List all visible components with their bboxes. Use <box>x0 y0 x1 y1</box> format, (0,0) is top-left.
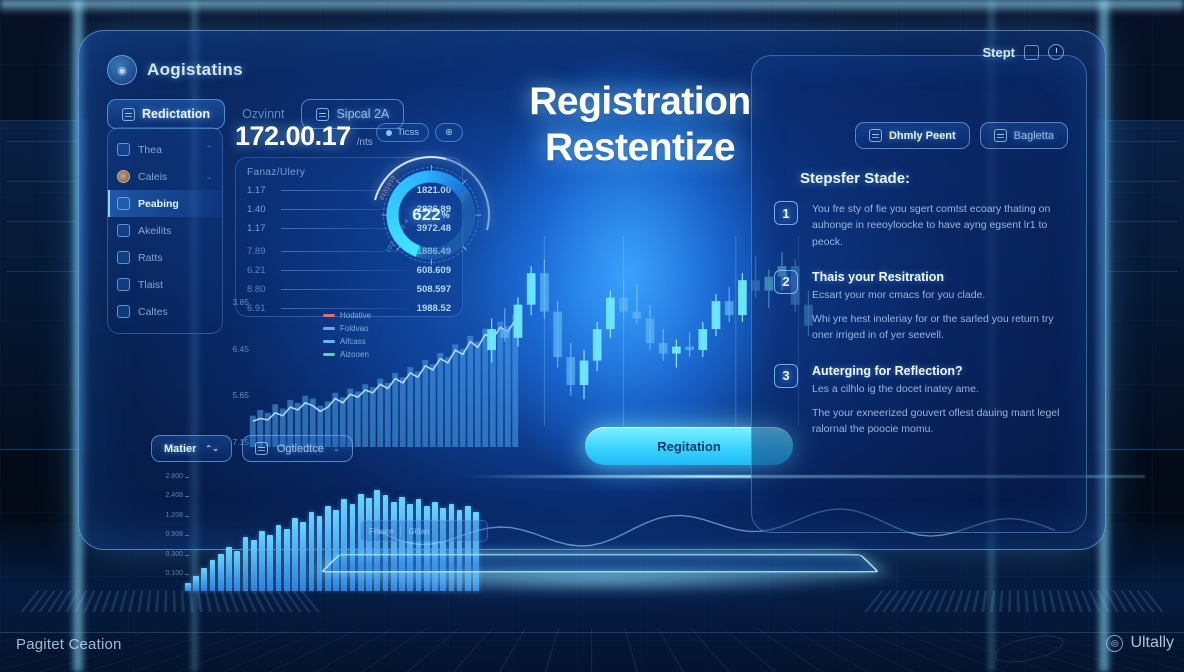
row-key: 1.17 <box>247 223 273 234</box>
bar <box>284 529 290 591</box>
plus-circle-icon: ⊕ <box>445 127 453 138</box>
right-panel-title: Stept <box>983 45 1016 60</box>
chevron-down-icon: ⌄ <box>333 444 340 453</box>
sidebar-item-label: Ratts <box>138 252 163 264</box>
doc-icon <box>994 129 1007 142</box>
bar <box>201 568 207 591</box>
row-value: 508.597 <box>417 284 451 295</box>
panel-header: ◉ Aogistatins <box>101 49 469 85</box>
avatar[interactable]: ◉ <box>107 55 137 85</box>
dropdown-matier[interactable]: Matier ⌃⌄ <box>151 435 232 462</box>
globe-icon <box>117 224 130 237</box>
bar <box>267 535 273 591</box>
right-panel-header: Stept <box>752 44 1064 60</box>
step-number: 3 <box>774 364 798 388</box>
bar <box>193 576 199 591</box>
sidebar-item-label: Caleis <box>138 171 167 183</box>
legend-item: Aizooen <box>323 348 371 361</box>
step-paragraph: Ecsart your mor cmacs for you clade. <box>812 287 1064 303</box>
mini-status-bar[interactable]: Frasce Gtilan <box>360 520 488 542</box>
step-body: Thais your Resitration Ecsart your mor c… <box>812 270 1064 344</box>
footer-left-label: Pagitet Ceation <box>16 636 122 653</box>
table-row[interactable]: 8.80 508.597 <box>247 284 451 295</box>
sun-icon <box>117 170 130 183</box>
sidebar-item-tlaist[interactable]: Tlaist <box>108 271 222 298</box>
clock-icon <box>117 143 130 156</box>
step-paragraph: The your exneerized gouvert oflest dauin… <box>812 405 1064 438</box>
tab-label: Redictation <box>142 107 210 121</box>
hash-icon <box>869 129 882 142</box>
holographic-dashboard: ◉ Aogistatins Redictation Ozvinnt Sipcal… <box>78 30 1106 550</box>
sidebar-item-label: Akeilits <box>138 225 171 237</box>
step-paragraph: You fre sty of fie you sgert comtst ecoa… <box>812 201 1064 250</box>
steps-heading: Stepsfer Stade: <box>800 170 1064 187</box>
chevron-updown-icon: ⌃⌄ <box>205 444 218 453</box>
chart-y-axis: 3.85 6.45 5.65 7.15 <box>215 297 249 447</box>
y-tick: 6.45 <box>215 344 249 354</box>
legend-item: Aifcass <box>323 335 371 348</box>
chevron-up-icon: ⌃ <box>205 144 213 155</box>
legend-label: Foldvao <box>340 322 368 335</box>
price-chip-group: Ticss ⊕ <box>376 123 463 142</box>
footer-divider <box>0 632 1184 633</box>
brand-icon: ◎ <box>1106 635 1123 652</box>
legend-swatch <box>323 314 335 317</box>
footer: Pagitet Ceation ◎ Ultally <box>0 614 1184 672</box>
step-paragraph: Whi yre hest inoleriay for or the sarled… <box>812 311 1064 344</box>
left-panel: ◉ Aogistatins Redictation Ozvinnt Sipcal… <box>101 49 469 533</box>
bar <box>259 531 265 591</box>
bar <box>185 583 191 591</box>
legend-item: Foldvao <box>323 322 371 335</box>
bagletta-button[interactable]: Bagletta <box>980 122 1068 149</box>
footer-brand-label: Ultally <box>1130 634 1174 652</box>
line-area-chart[interactable]: 3.85 6.45 5.65 7.15 Hodstive Foldvao <box>219 297 489 447</box>
button-label: Bagletta <box>1014 130 1054 142</box>
y-tick: 0.300 <box>149 551 183 558</box>
gauge-value: 622% <box>377 161 485 269</box>
list-icon <box>117 197 130 210</box>
tab-label: Sipcal 2A <box>336 107 389 121</box>
sidebar-item-thea[interactable]: Thea ⌃ <box>108 136 222 163</box>
cta-label: Regitation <box>657 439 721 454</box>
mini-status-left: Frasce <box>369 527 393 536</box>
step-item-1: 1 You fre sty of fie you sgert comtst ec… <box>774 201 1064 250</box>
row-key: 1.17 <box>247 185 273 196</box>
status-dot-icon <box>386 130 392 136</box>
step-body: You fre sty of fie you sgert comtst ecoa… <box>812 201 1064 250</box>
bar <box>276 525 282 591</box>
price-unit: /nts <box>357 137 373 148</box>
legend-label: Hodstive <box>340 309 371 322</box>
donut-gauge: 0101010 102-02-08-4 622% <box>377 161 485 269</box>
row-key: 1.40 <box>247 204 273 215</box>
chevron-down-icon: ⌄ <box>205 171 213 182</box>
book-icon <box>117 305 130 318</box>
bar-chart-y-axis: 2.800 2.408 1.208 0.908 0.300 0.100 <box>149 473 183 577</box>
sidebar-item-label: Tlaist <box>138 279 163 291</box>
sidebar-nav: Thea ⌃ Caleis ⌄ Peabing Akeilits <box>107 127 223 334</box>
dropdown-label: Ogtiedtce <box>277 443 324 455</box>
step-body: Auterging for Reflection? Les a cilhlo i… <box>812 364 1064 438</box>
mini-status-right: Gtilan <box>408 527 429 536</box>
bar <box>226 547 232 591</box>
floor-bars-left <box>20 590 320 612</box>
chart-legend: Hodstive Foldvao Aifcass Aizooen <box>323 309 371 361</box>
legend-label: Aifcass <box>340 335 366 348</box>
right-panel-buttons: Dhmly Peent Bagletta <box>770 122 1068 149</box>
y-tick: 0.100 <box>149 570 183 577</box>
bar <box>243 537 249 591</box>
y-tick: 2.408 <box>149 492 183 499</box>
print-icon[interactable] <box>1024 45 1039 60</box>
decorative-swoosh <box>992 631 1065 667</box>
grid-icon <box>122 108 135 121</box>
step-title: Auterging for Reflection? <box>812 364 1064 378</box>
tab-redictation[interactable]: Redictation <box>107 99 225 129</box>
bar <box>218 554 224 591</box>
step-paragraph: Les a cilhlo ig the docet inatey ame. <box>812 381 1064 397</box>
step-title: Thais your Resitration <box>812 270 1064 284</box>
right-panel: Stept Dhmly Peent Bagletta Stepsfer Stad… <box>751 55 1087 533</box>
row-connector <box>281 270 409 271</box>
price-display: 172.00.17 /nts <box>235 121 373 152</box>
sidebar-item-label: Thea <box>138 144 162 156</box>
step-number: 1 <box>774 201 798 225</box>
step-item-2: 2 Thais your Resitration Ecsart your mor… <box>774 270 1064 344</box>
y-tick: 2.800 <box>149 473 183 480</box>
legend-swatch <box>323 327 335 330</box>
daily-print-button[interactable]: Dhmly Peent <box>855 122 970 149</box>
footer-right-group: ◎ Ultally <box>1106 634 1174 652</box>
bar <box>251 540 257 591</box>
sidebar-item-label: Caltes <box>138 306 168 318</box>
legend-swatch <box>323 340 335 343</box>
sidebar-item-akeilits[interactable]: Akeilits <box>108 217 222 244</box>
dropdown-label: Matier <box>164 443 196 455</box>
status-chip-add[interactable]: ⊕ <box>435 123 463 142</box>
scene-root: ◉ Aogistatins Redictation Ozvinnt Sipcal… <box>0 0 1184 672</box>
row-key: 7.89 <box>247 246 273 257</box>
sidebar-item-ratts[interactable]: Ratts <box>108 244 222 271</box>
button-label: Dhmly Peent <box>889 130 956 142</box>
gauge-number: 622 <box>412 205 440 225</box>
price-value: 172.00.17 <box>235 121 351 152</box>
row-key: 6.21 <box>247 265 273 276</box>
step-number: 2 <box>774 270 798 294</box>
ceiling-light-strip <box>0 0 1184 14</box>
y-tick: 5.65 <box>215 390 249 400</box>
legend-swatch <box>323 353 335 356</box>
status-chip-ticss[interactable]: Ticss <box>376 123 429 142</box>
page-title: Aogistatins <box>147 60 243 80</box>
avatar-glyph: ◉ <box>117 64 127 77</box>
gauge-suffix: % <box>442 210 450 220</box>
sidebar-item-label: Peabing <box>138 198 179 210</box>
tab-label: Ozvinnt <box>242 107 284 121</box>
sidebar-item-peabing[interactable]: Peabing <box>108 190 222 217</box>
pedestal-platform <box>320 554 879 572</box>
bar <box>210 560 216 591</box>
row-connector <box>281 289 409 290</box>
y-tick: 0.908 <box>149 531 183 538</box>
doc-icon <box>255 442 268 455</box>
step-item-3: 3 Auterging for Reflection? Les a cilhlo… <box>774 364 1064 438</box>
row-key: 8.80 <box>247 284 273 295</box>
y-tick: 3.85 <box>215 297 249 307</box>
globe-icon <box>117 251 130 264</box>
list-icon <box>316 108 329 121</box>
divider <box>400 525 401 537</box>
floor-bars-right <box>864 590 1164 612</box>
dropdown-ogtiedtce[interactable]: Ogtiedtce ⌄ <box>242 435 353 462</box>
bar <box>234 551 240 591</box>
legend-item: Hodstive <box>323 309 371 322</box>
clock-icon[interactable] <box>1048 44 1064 60</box>
sidebar-item-caleis[interactable]: Caleis ⌄ <box>108 163 222 190</box>
pen-icon <box>117 278 130 291</box>
chip-label: Ticss <box>397 127 419 138</box>
chart-toolbar: Matier ⌃⌄ Ogtiedtce ⌄ <box>151 435 353 462</box>
y-tick: 1.208 <box>149 512 183 519</box>
bar <box>292 518 298 591</box>
sidebar-item-caltes[interactable]: Caltes <box>108 298 222 325</box>
legend-label: Aizooen <box>340 348 369 361</box>
